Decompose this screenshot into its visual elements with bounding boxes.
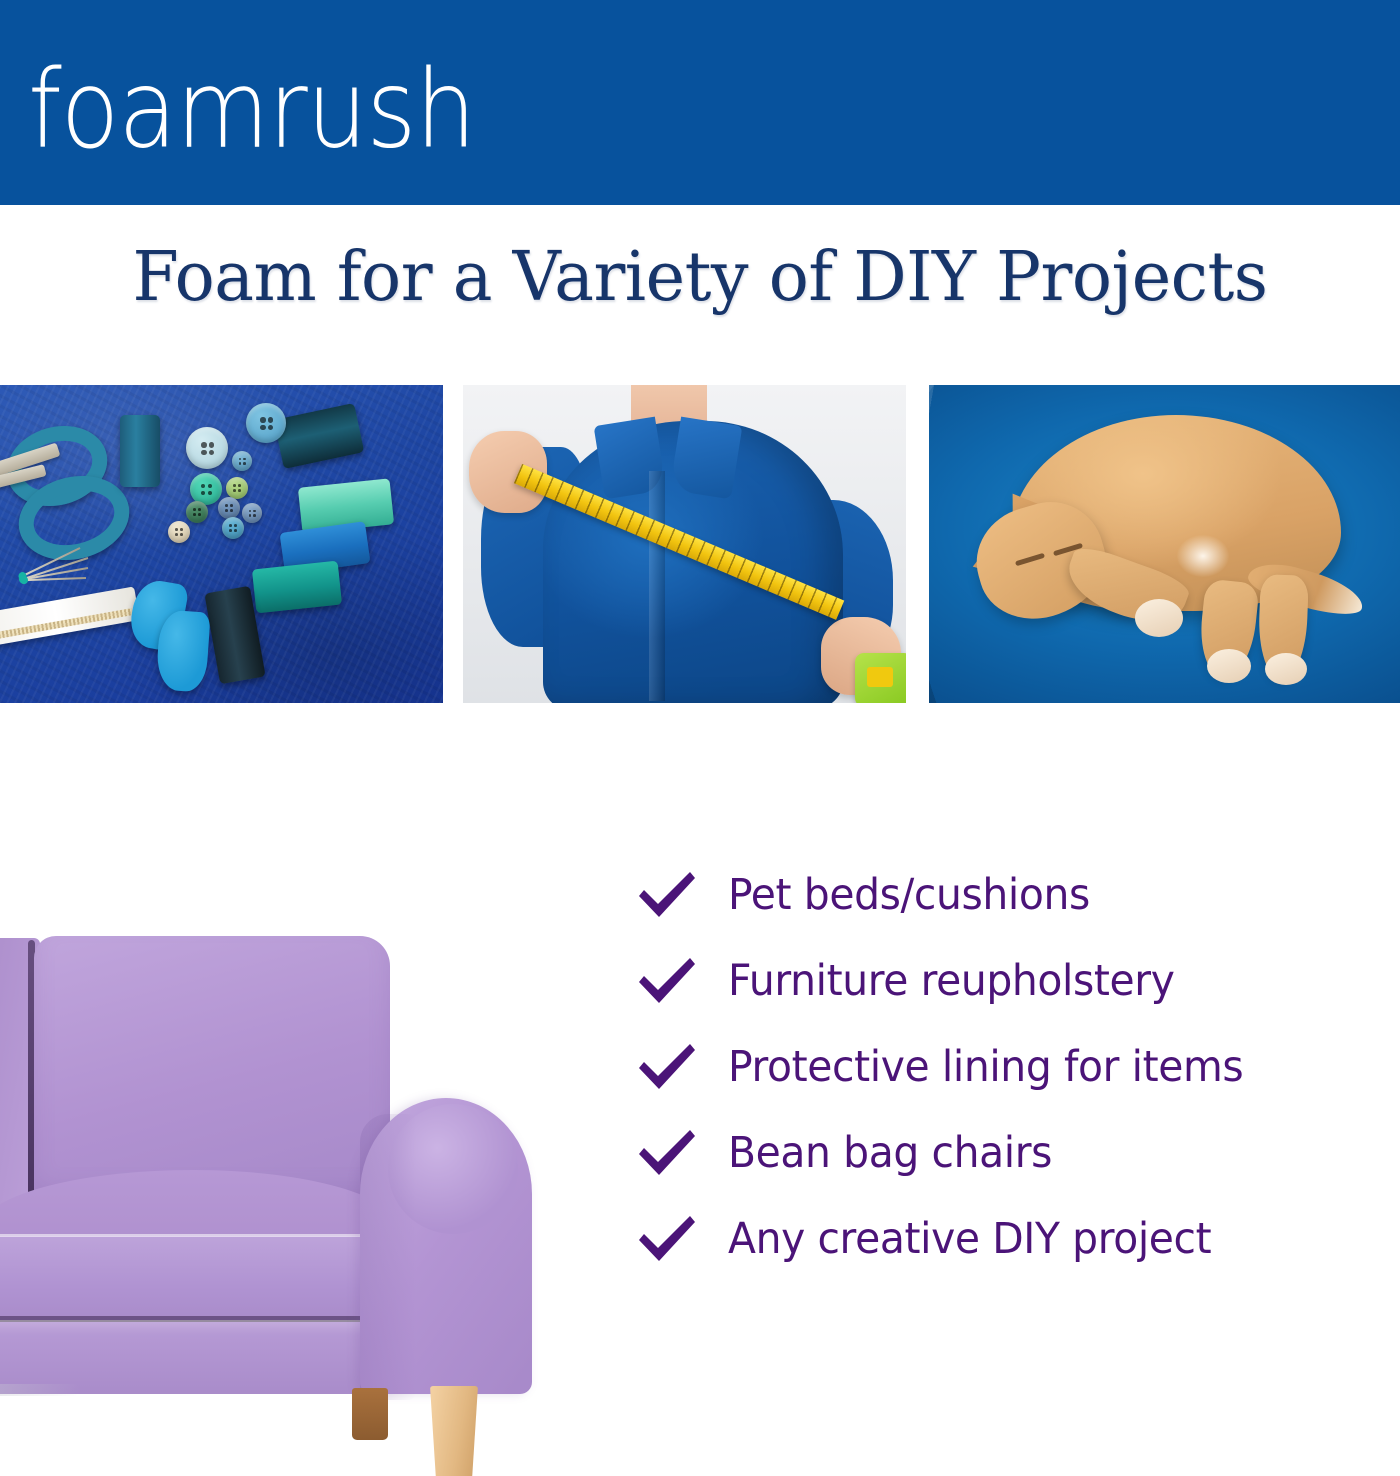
thread-spool-dark-top bbox=[120, 415, 160, 487]
purple-sofa-illustration bbox=[0, 918, 560, 1400]
cat-paw bbox=[1135, 599, 1183, 637]
list-item: Pet beds/cushions bbox=[636, 852, 1376, 938]
list-item-label: Pet beds/cushions bbox=[728, 870, 1090, 920]
list-item: Bean bag chairs bbox=[636, 1110, 1376, 1196]
thread-spool-teal bbox=[252, 561, 342, 614]
shirt-placket bbox=[649, 471, 665, 701]
brand-logo: foamrush bbox=[28, 50, 475, 169]
button-small-cream bbox=[168, 521, 190, 543]
cat-paw bbox=[1265, 653, 1307, 685]
check-icon bbox=[636, 1040, 698, 1094]
button-small-green bbox=[226, 477, 248, 499]
check-icon bbox=[636, 1126, 698, 1180]
tape-measure-case bbox=[855, 653, 906, 703]
button-small-slate-2 bbox=[242, 503, 262, 523]
sofa-leg-back bbox=[352, 1388, 388, 1440]
sofa-floor-shadow bbox=[0, 1384, 80, 1396]
list-item-label: Furniture reupholstery bbox=[728, 956, 1175, 1006]
check-icon bbox=[636, 1212, 698, 1266]
photo-strip bbox=[0, 385, 1400, 703]
check-icon bbox=[636, 868, 698, 922]
sofa-arm-inner-shadow bbox=[360, 1114, 416, 1400]
benefits-checklist: Pet beds/cushions Furniture reupholstery… bbox=[636, 852, 1376, 1282]
sofa-back-cushion-main bbox=[34, 936, 390, 1202]
list-item-label: Bean bag chairs bbox=[728, 1128, 1052, 1178]
sofa-seat-cushion bbox=[0, 1236, 412, 1320]
list-item-label: Protective lining for items bbox=[728, 1042, 1243, 1092]
cat-paw bbox=[1207, 649, 1251, 683]
header-bar: foamrush bbox=[0, 0, 1400, 205]
cat-white-belly-patch bbox=[1177, 535, 1229, 577]
sewing-supplies-photo bbox=[0, 385, 443, 703]
button-large-lightblue bbox=[186, 427, 228, 469]
cat-on-beanbag-photo bbox=[929, 385, 1400, 703]
page-title: Foam for a Variety of DIY Projects bbox=[14, 238, 1386, 317]
sofa-seat-seam bbox=[0, 1234, 412, 1237]
check-icon bbox=[636, 954, 698, 1008]
button-small-darkgreen bbox=[186, 501, 208, 523]
tape-measure-photo bbox=[463, 385, 906, 703]
button-small-blue-3 bbox=[222, 517, 244, 539]
button-small-slate bbox=[218, 497, 240, 519]
button-small-blue bbox=[232, 451, 252, 471]
list-item-label: Any creative DIY project bbox=[728, 1214, 1211, 1264]
list-item: Any creative DIY project bbox=[636, 1196, 1376, 1282]
list-item: Protective lining for items bbox=[636, 1024, 1376, 1110]
list-item: Furniture reupholstery bbox=[636, 938, 1376, 1024]
button-large-blue bbox=[246, 403, 286, 443]
